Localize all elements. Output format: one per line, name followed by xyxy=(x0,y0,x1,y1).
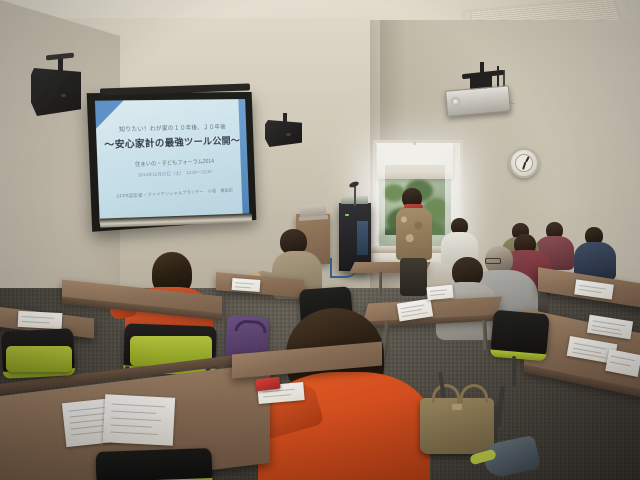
clock-face xyxy=(515,154,533,172)
presenter-legs xyxy=(400,258,427,296)
printed-handouts[interactable] xyxy=(232,278,261,292)
attendee-gray-hoodie-glasses xyxy=(485,258,501,264)
av-rack-led xyxy=(345,214,349,216)
chair-seat[interactable] xyxy=(6,346,72,372)
av-rack-panel xyxy=(357,221,368,255)
projector-lens xyxy=(451,97,461,107)
seminar-room-photo: 知りたい！わが家の１０年後、２０年後 〜安心家計の最強ツール公開〜 住まいの・子… xyxy=(0,0,640,480)
presenter-standing-body xyxy=(396,208,432,260)
wall-speaker-left xyxy=(31,68,81,116)
blind-pull[interactable] xyxy=(413,141,416,145)
clock-hand-minute xyxy=(523,162,527,170)
wall-speaker-right xyxy=(265,120,302,147)
handbag-clasp xyxy=(452,404,462,410)
handbag-on-floor[interactable] xyxy=(420,398,494,454)
slide-datetime: 2014年11月22日（土） 13:30〜15:30 xyxy=(98,168,248,181)
desk-leg xyxy=(379,272,382,294)
wall-clock xyxy=(509,148,539,178)
slide-footer: CFP®認定者・ファイナンシャルプランナー 小島 美由紀 xyxy=(99,186,249,201)
projection-screen[interactable]: 知りたい！わが家の１０年後、２０年後 〜安心家計の最強ツール公開〜 住まいの・子… xyxy=(87,92,257,232)
chair[interactable] xyxy=(95,448,212,480)
printed-handouts[interactable] xyxy=(426,285,453,301)
chair[interactable] xyxy=(490,310,550,359)
backpack-strap xyxy=(235,319,268,333)
microphone-stand[interactable] xyxy=(354,186,356,206)
slide-title: 〜安心家計の最強ツール公開〜 xyxy=(96,133,247,151)
printed-handouts[interactable] xyxy=(103,394,175,446)
chair-leg xyxy=(512,356,516,386)
ceiling-projector xyxy=(445,85,511,116)
printed-handouts[interactable] xyxy=(18,311,63,329)
projection-screen-surface: 知りたい！わが家の１０年後、２０年後 〜安心家計の最強ツール公開〜 住まいの・子… xyxy=(95,99,250,224)
